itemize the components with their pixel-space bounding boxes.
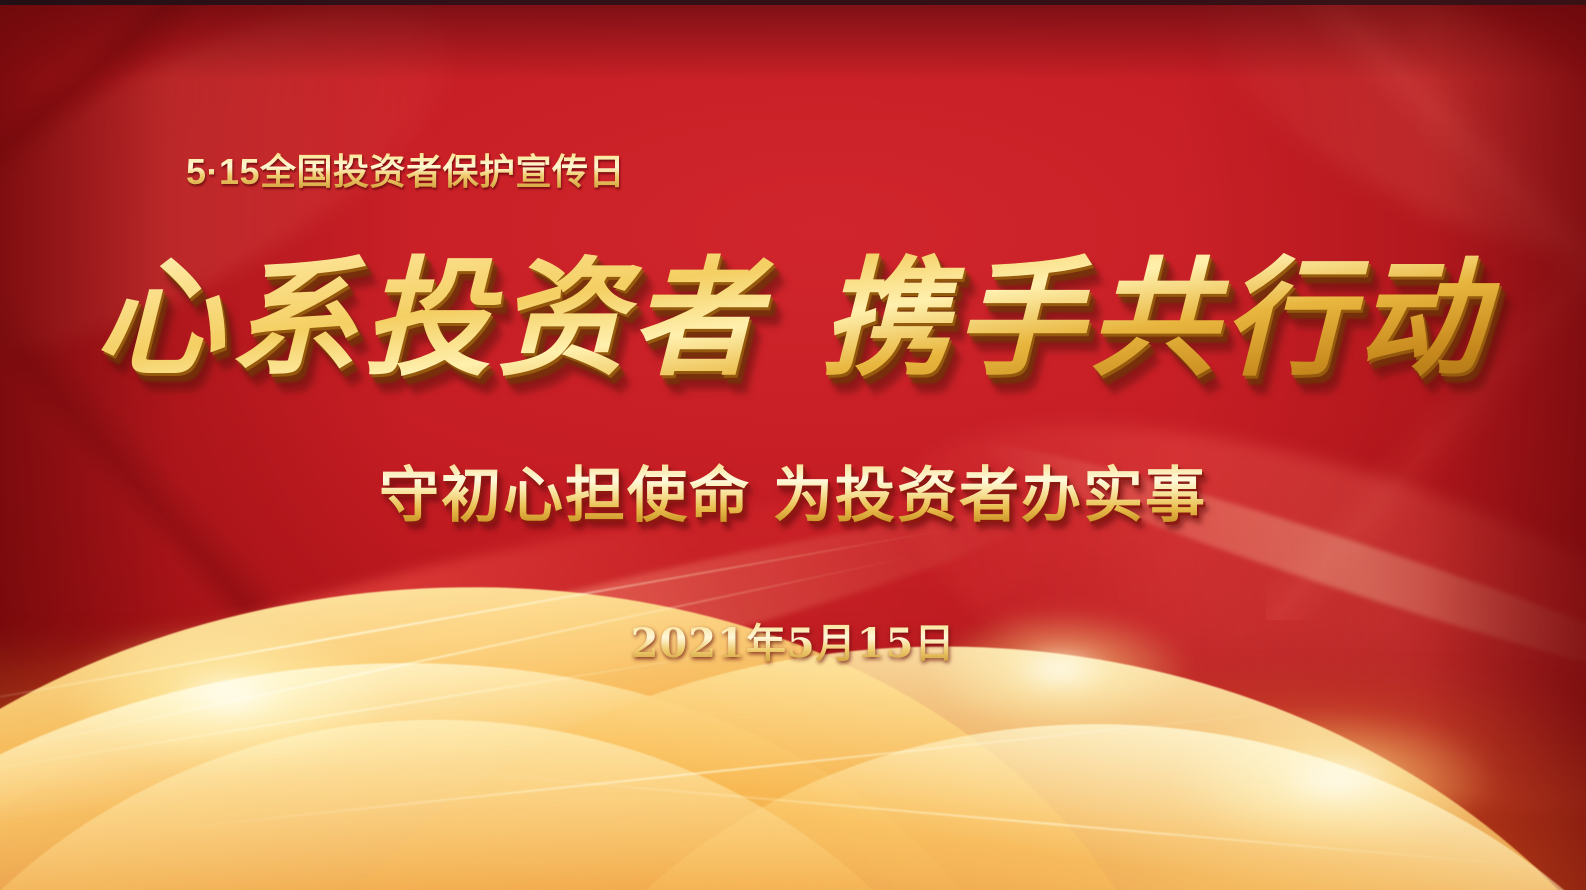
campaign-eyebrow-text: 5·15全国投资者保护宣传日 (186, 143, 625, 195)
headline-left-phrase: 心系投资者 (95, 244, 765, 394)
subtitle-slogan: 守初心担使命为投资者办实事 (0, 447, 1586, 534)
headline-calligraphy: 心系投资者携手共行动 (0, 252, 1586, 386)
poster-canvas: 5·15全国投资者保护宣传日 心系投资者携手共行动 守初心担使命为投资者办实事 … (0, 0, 1586, 890)
subtitle-right-phrase: 为投资者办实事 (773, 462, 1207, 529)
headline-right-phrase: 携手共行动 (821, 244, 1491, 394)
poster-content: 5·15全国投资者保护宣传日 心系投资者携手共行动 守初心担使命为投资者办实事 … (0, 0, 1586, 890)
subtitle-left-phrase: 守初心担使命 (379, 462, 751, 529)
event-date-text: 2021年5月15日 (0, 611, 1586, 669)
